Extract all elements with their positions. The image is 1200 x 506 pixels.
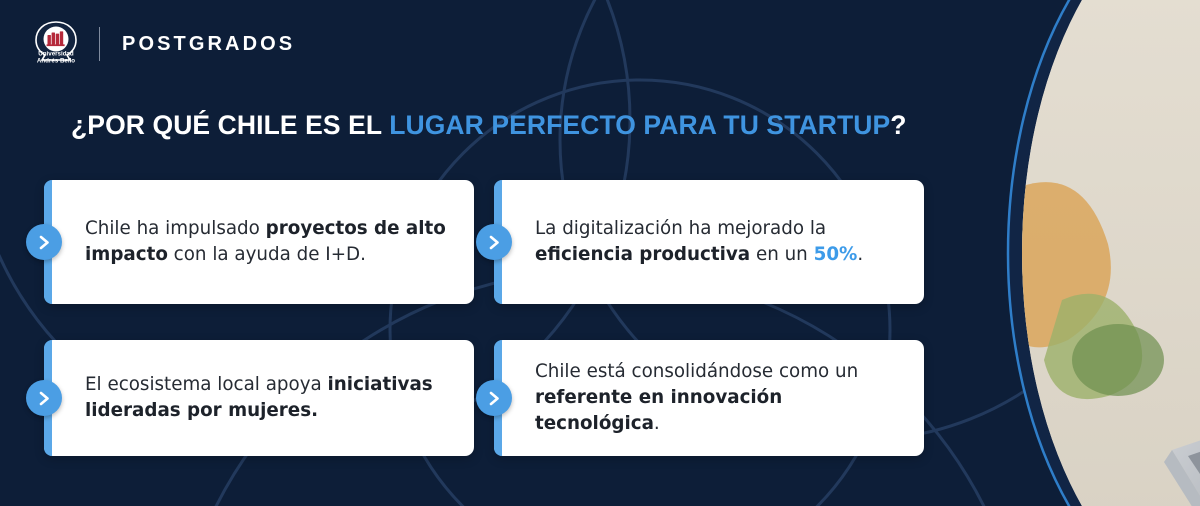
page-title: ¿POR QUÉ CHILE ES EL LUGAR PERFECTO PARA… [71, 110, 907, 141]
infographic-canvas: Universidad Andrés Bello POSTGRADOS ¿POR… [0, 0, 1200, 506]
fact-card-text: El ecosistema local apoya iniciativas li… [44, 372, 474, 424]
logo-line-2: Andrés Bello [37, 57, 75, 64]
fact-card-text: Chile está consolidándose como un refere… [494, 359, 924, 437]
hero-photo [1000, 0, 1200, 506]
fact-card[interactable]: El ecosistema local apoya iniciativas li… [44, 340, 474, 456]
fact-card[interactable]: Chile ha impulsado proyectos de alto imp… [44, 180, 474, 304]
title-accent: LUGAR PERFECTO PARA TU STARTUP [389, 110, 890, 140]
photo-circle-mask [1022, 0, 1200, 506]
brand-header: Universidad Andrés Bello POSTGRADOS [33, 20, 295, 68]
title-prefix: ¿POR QUÉ CHILE ES EL [71, 110, 389, 140]
fact-card[interactable]: La digitalización ha mejorado la eficien… [494, 180, 924, 304]
photo-illustration [1022, 0, 1200, 506]
title-suffix: ? [890, 110, 906, 140]
brand-divider [99, 27, 100, 61]
brand-wordmark: POSTGRADOS [122, 33, 295, 56]
fact-card[interactable]: Chile está consolidándose como un refere… [494, 340, 924, 456]
fact-card-text: La digitalización ha mejorado la eficien… [494, 216, 924, 268]
university-crest-icon: Universidad Andrés Bello [33, 20, 79, 68]
fact-card-text: Chile ha impulsado proyectos de alto imp… [44, 216, 474, 268]
